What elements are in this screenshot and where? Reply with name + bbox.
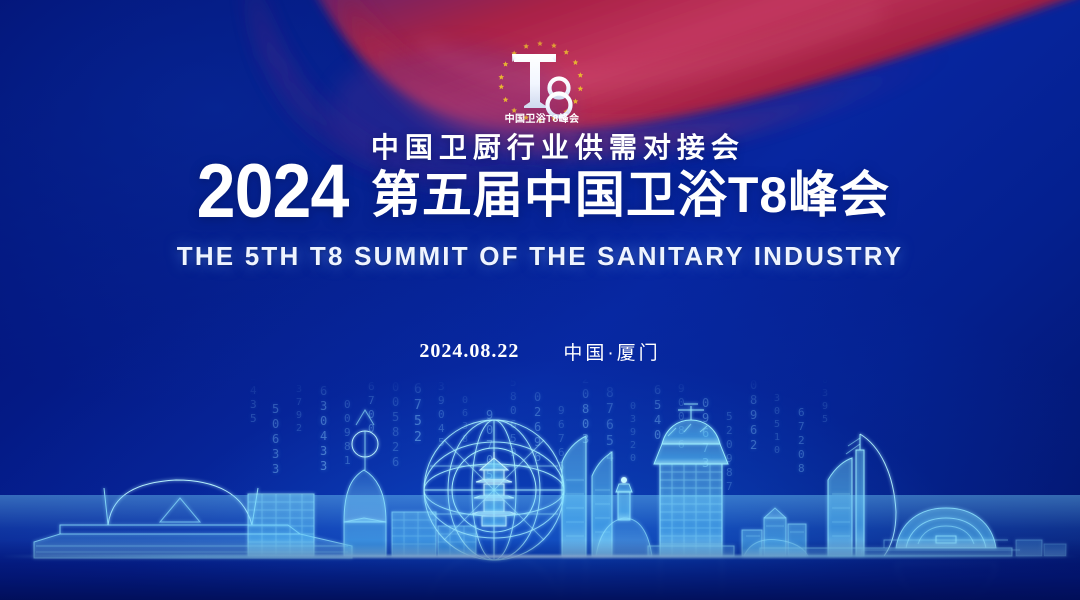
event-location: 中国·厦门: [563, 338, 660, 365]
subtitle-english: THE 5TH T8 SUMMIT OF THE SANITARY INDUST…: [0, 241, 1080, 271]
main-title-chinese: 第五届中国卫浴T8峰会: [371, 167, 890, 223]
title-stack: 中国卫厨行业供需对接会 第五届中国卫浴T8峰会: [371, 132, 890, 223]
year-label: 2024: [196, 132, 348, 230]
event-meta: 2024.08.22 中国·厦门: [0, 338, 1080, 365]
digit-8: [548, 79, 571, 117]
title-main-row: 2024 中国卫厨行业供需对接会 第五届中国卫浴T8峰会: [0, 132, 1080, 230]
t8-summit-logo: 中国卫浴T8峰会: [484, 26, 600, 126]
subtitle-chinese: 中国卫厨行业供需对接会: [371, 132, 745, 164]
horizon-glow-line: [0, 555, 1080, 558]
event-date: 2024.08.22: [419, 340, 519, 363]
poster-canvas: 2 4 3 55 0 6 3 30 3 7 9 26 3 0 4 3 30 0 …: [0, 0, 1080, 600]
logo-caption-text: 中国卫浴T8峰会: [505, 112, 580, 125]
xiamen-city-skyline: [0, 370, 1080, 600]
title-block: 2024 中国卫厨行业供需对接会 第五届中国卫浴T8峰会 THE 5TH T8 …: [0, 132, 1080, 271]
